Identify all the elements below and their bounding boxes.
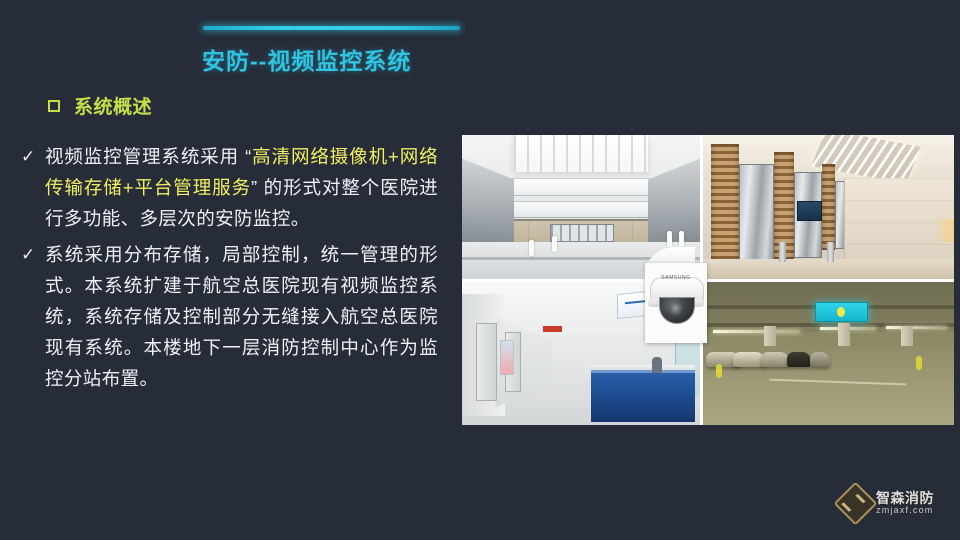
- title-accent-rule: [203, 26, 460, 30]
- watermark: 智森消防 zmjaxf.com: [840, 488, 934, 519]
- atrium-upper-floor-band: [507, 178, 650, 196]
- atrium-person: [552, 236, 557, 252]
- corridor-door: [476, 323, 497, 401]
- lobby-trash-bin: [779, 242, 786, 262]
- list-item-text: 视频监控管理系统采用 “高清网络摄像机+网络传输存储+平台管理服务” 的形式对整…: [45, 141, 438, 234]
- photo-underground-parking: [703, 282, 954, 425]
- brand-logo-icon: [834, 482, 878, 526]
- bullet-1-part-1: 视频监控管理系统采用 “: [45, 146, 252, 167]
- watermark-text: 智森消防 zmjaxf.com: [876, 491, 934, 515]
- watermark-brand-name: 智森消防: [876, 491, 934, 506]
- photo-elevator-lobby: [703, 135, 954, 279]
- camera-lens-icon: [669, 303, 685, 317]
- atrium-person: [679, 231, 684, 247]
- corridor-exit-sign: [543, 326, 562, 332]
- watermark-url: zmjaxf.com: [876, 506, 934, 515]
- check-icon: ✓: [18, 141, 45, 172]
- garage-light-strip: [886, 326, 947, 329]
- atrium-person: [529, 240, 534, 256]
- page-title: 安防--视频监控系统: [202, 42, 411, 76]
- atrium-entrance-doors: [550, 224, 614, 242]
- square-bullet-icon: [48, 100, 60, 112]
- body-content: ✓ 视频监控管理系统采用 “高清网络摄像机+网络传输存储+平台管理服务” 的形式…: [18, 141, 438, 399]
- photo-collage: [462, 135, 954, 425]
- lobby-elevator-door: [739, 164, 774, 267]
- lobby-trash-bin: [827, 242, 834, 262]
- lobby-info-screen: [797, 201, 822, 220]
- garage-bollard: [916, 356, 922, 370]
- lobby-floor: [703, 259, 954, 279]
- camera-dome: [659, 297, 695, 324]
- lobby-wall-light: [934, 219, 954, 242]
- list-item-text: 系统采用分布存储，局部控制，统一管理的形式。本系统扩建于航空总医院现有视频监控系…: [45, 239, 438, 394]
- check-icon: ✓: [18, 239, 45, 270]
- slide: 安防--视频监控系统 系统概述 ✓ 视频监控管理系统采用 “高清网络摄像机+网络…: [0, 0, 960, 540]
- list-item: ✓ 视频监控管理系统采用 “高清网络摄像机+网络传输存储+平台管理服务” 的形式…: [18, 141, 438, 234]
- list-item: ✓ 系统采用分布存储，局部控制，统一管理的形式。本系统扩建于航空总医院现有视频监…: [18, 239, 438, 394]
- nurse-station-counter: [591, 370, 696, 423]
- photo-hospital-atrium: [462, 135, 700, 279]
- garage-bollard: [716, 364, 722, 378]
- garage-parked-car: [761, 352, 789, 367]
- atrium-person: [667, 231, 672, 247]
- lobby-wood-slat-panel: [711, 144, 739, 268]
- lobby-wood-slat-panel: [822, 164, 835, 250]
- garage-parked-car: [787, 352, 811, 367]
- garage-light-strip: [713, 330, 799, 333]
- atrium-mid-floor-band: [502, 201, 654, 217]
- corridor-wall-poster: [500, 340, 514, 374]
- corridor-staff-person: [652, 357, 662, 373]
- garage-parked-car: [810, 352, 830, 367]
- camera-brand-label: SAMSUNG: [645, 275, 707, 281]
- section-heading-label: 系统概述: [74, 92, 152, 119]
- atrium-skylight-ribs: [514, 135, 647, 172]
- garage-led-sign: [815, 302, 868, 322]
- section-heading: 系统概述: [48, 92, 152, 119]
- photo-dome-camera: SAMSUNG: [645, 263, 707, 343]
